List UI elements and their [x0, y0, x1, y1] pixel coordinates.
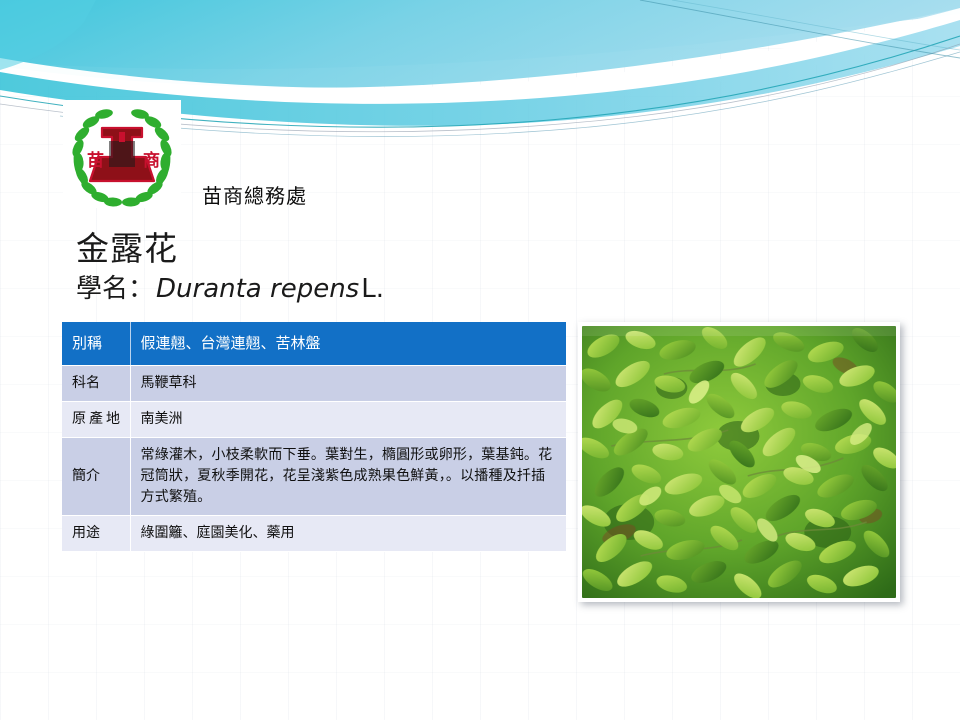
school-logo: 苗 商: [63, 100, 181, 208]
table-key-origin: 原產地: [62, 401, 130, 437]
table-value-usage: 綠圍籬、庭園美化、藥用: [130, 515, 566, 551]
table-key-alias: 別稱: [62, 322, 130, 365]
table-value-alias: 假連翹、台灣連翹、苦林盤: [130, 322, 566, 365]
table-value-origin: 南美洲: [130, 401, 566, 437]
table-value-description: 常綠灌木，小枝柔軟而下垂。葉對生，橢圓形或卵形，葉基鈍。花冠筒狀，夏秋季開花，花…: [130, 437, 566, 515]
plant-foliage-photo: [582, 326, 896, 598]
table-row: 簡介 常綠灌木，小枝柔軟而下垂。葉對生，橢圓形或卵形，葉基鈍。花冠筒狀，夏秋季開…: [62, 437, 566, 515]
organization-name: 苗商總務處: [202, 180, 307, 209]
table-row: 科名 馬鞭草科: [62, 365, 566, 401]
table-key-usage: 用途: [62, 515, 130, 551]
slide-canvas: 苗 商 苗商總務處 金露花 學名：Duranta repensL. 別稱 假連翹…: [0, 0, 960, 720]
table-key-description: 簡介: [62, 437, 130, 515]
page-title: 金露花: [76, 230, 178, 268]
table-key-family: 科名: [62, 365, 130, 401]
table-row: 用途 綠圍籬、庭園美化、藥用: [62, 515, 566, 551]
scientific-name-authority: L.: [361, 274, 384, 304]
scientific-name-value: Duranta repens: [154, 274, 361, 304]
table-row-header: 別稱 假連翹、台灣連翹、苦林盤: [62, 322, 566, 365]
logo-char-right: 商: [143, 150, 160, 171]
scientific-name-line: 學名：Duranta repensL.: [76, 274, 384, 305]
logo-char-left: 苗: [87, 150, 104, 171]
plant-info-table: 別稱 假連翹、台灣連翹、苦林盤 科名 馬鞭草科 原產地 南美洲 簡介 常綠灌木，…: [62, 322, 566, 552]
scientific-name-label: 學名：: [76, 274, 154, 304]
plant-photo-frame: [578, 322, 900, 602]
table-value-family: 馬鞭草科: [130, 365, 566, 401]
table-row: 原產地 南美洲: [62, 401, 566, 437]
